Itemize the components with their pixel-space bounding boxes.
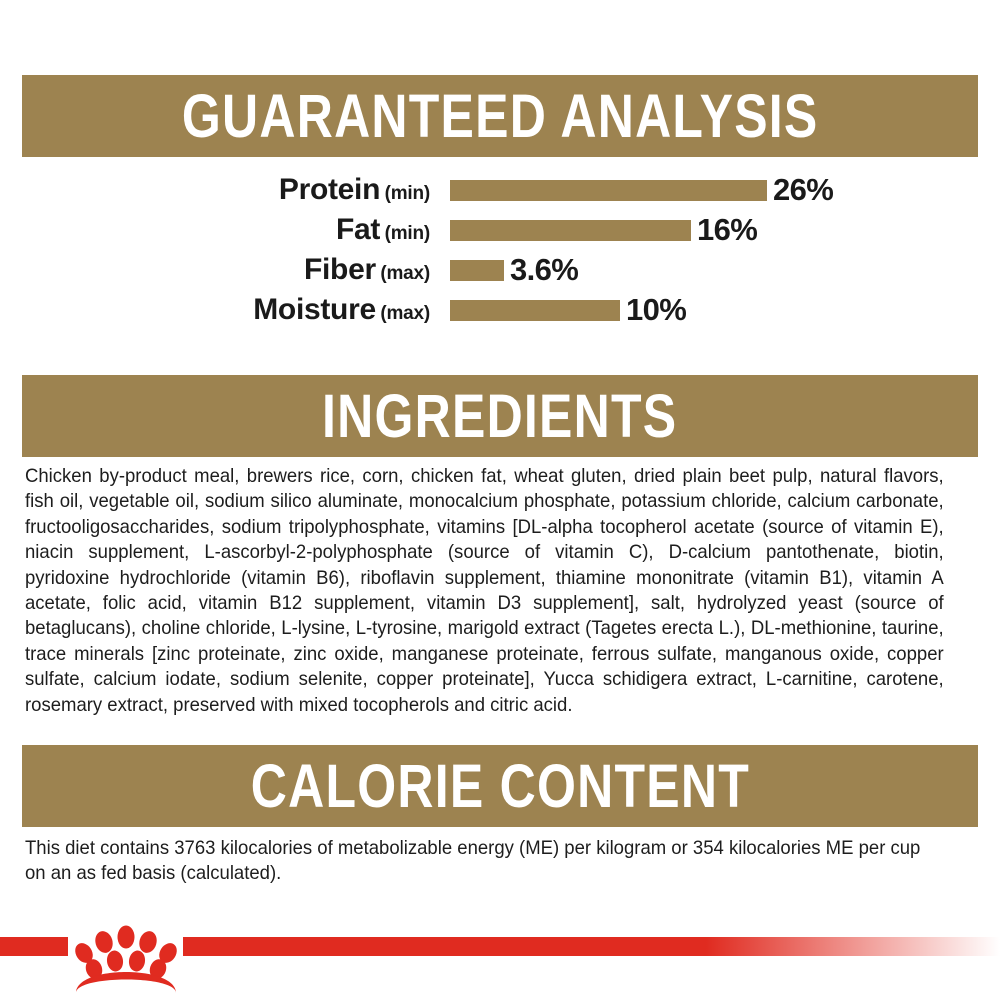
analysis-row-fiber: Fiber (max) 3.6%: [0, 250, 1000, 290]
nutrient-name: Fiber: [304, 253, 376, 286]
footer: [0, 925, 1000, 1000]
bar-zone-protein: 26%: [450, 172, 833, 208]
nutrient-label-fat: Fat (min): [0, 213, 430, 247]
guaranteed-analysis-header-band: GUARANTEED ANALYSIS: [22, 75, 978, 157]
nutrition-label-sheet: GUARANTEED ANALYSIS Protein (min) 26% Fa…: [0, 0, 1000, 1000]
bar-zone-fat: 16%: [450, 212, 757, 248]
nutrient-qualifier: (min): [385, 183, 430, 204]
bar-value-fat: 16%: [697, 212, 757, 248]
guaranteed-analysis-chart: Protein (min) 26% Fat (min) 16% Fiber (m…: [0, 170, 1000, 330]
nutrient-label-moisture: Moisture (max): [0, 293, 430, 327]
bar-value-protein: 26%: [773, 172, 833, 208]
nutrient-label-fiber: Fiber (max): [0, 253, 430, 287]
calorie-content-header-band: CALORIE CONTENT: [22, 745, 978, 827]
bar-zone-moisture: 10%: [450, 292, 686, 328]
bar-value-fiber: 3.6%: [510, 252, 578, 288]
footer-rule-left: [0, 937, 68, 956]
analysis-row-moisture: Moisture (max) 10%: [0, 290, 1000, 330]
bar-value-moisture: 10%: [626, 292, 686, 328]
nutrient-name: Fat: [336, 213, 380, 246]
ingredients-heading: INGREDIENTS: [322, 386, 677, 447]
nutrient-qualifier: (min): [385, 223, 430, 244]
bar-fiber: [450, 260, 504, 281]
nutrient-name: Moisture: [253, 293, 376, 326]
bar-zone-fiber: 3.6%: [450, 252, 578, 288]
footer-rule-right: [183, 937, 1000, 956]
nutrient-label-protein: Protein (min): [0, 173, 430, 207]
guaranteed-analysis-heading: GUARANTEED ANALYSIS: [182, 86, 819, 147]
bar-moisture: [450, 300, 620, 321]
nutrient-qualifier: (max): [380, 303, 430, 324]
calorie-content-text: This diet contains 3763 kilocalories of …: [25, 836, 944, 887]
ingredients-text: Chicken by-product meal, brewers rice, c…: [25, 464, 944, 718]
bar-fat: [450, 220, 691, 241]
ingredients-header-band: INGREDIENTS: [22, 375, 978, 457]
royal-canin-paw-icon: [70, 917, 182, 997]
analysis-row-fat: Fat (min) 16%: [0, 210, 1000, 250]
analysis-row-protein: Protein (min) 26%: [0, 170, 1000, 210]
nutrient-name: Protein: [279, 173, 380, 206]
nutrient-qualifier: (max): [380, 263, 430, 284]
calorie-content-heading: CALORIE CONTENT: [250, 756, 749, 817]
bar-protein: [450, 180, 767, 201]
